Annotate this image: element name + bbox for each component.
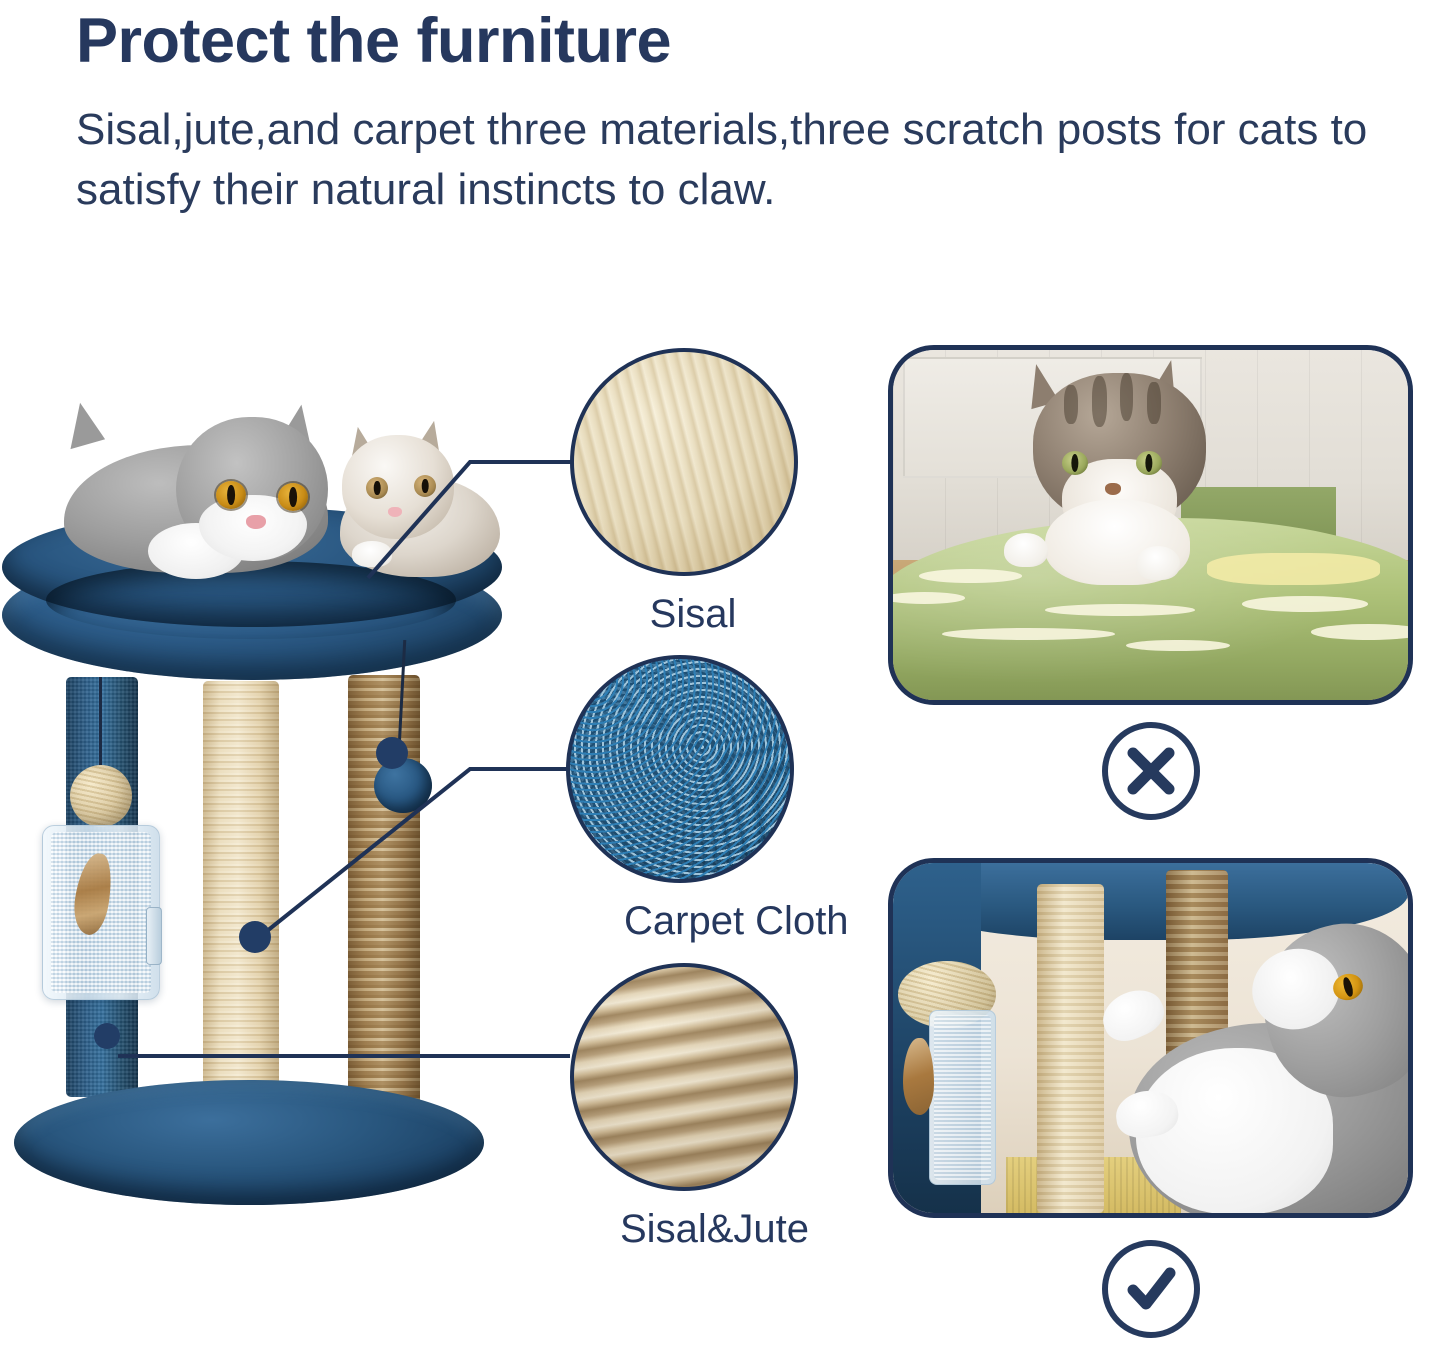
good-scene-feather-toy: [903, 1038, 934, 1115]
infographic-page: Protect the furniture Sisal,jute,and car…: [0, 0, 1441, 1345]
kitten-eye-right: [414, 475, 436, 497]
pom-pom-toy: [374, 758, 432, 813]
kitten-paw: [352, 541, 392, 567]
grey-white-cat-scratching: [1089, 912, 1413, 1218]
sisal-rope-swatch-icon: [570, 348, 798, 576]
material-label-sisal: Sisal: [580, 592, 806, 637]
page-subtitle: Sisal,jute,and carpet three materials,th…: [76, 100, 1406, 221]
grey-cat: [64, 403, 334, 575]
sisal-ball-toy: [70, 765, 132, 827]
sisal-jute-rope-swatch-icon: [570, 963, 798, 1191]
material-sisal-jute: Sisal&Jute: [570, 963, 806, 1252]
toy-string: [99, 677, 102, 773]
plush-base-disc: [14, 1080, 484, 1205]
groomer-clip: [146, 907, 162, 965]
cross-icon: [1102, 722, 1200, 820]
kitten-nose: [388, 507, 402, 517]
bad-cat-paw-left: [1004, 533, 1048, 567]
good-scene-groomer-brush: [929, 1010, 996, 1185]
good-cat-paw-upper: [1096, 981, 1171, 1048]
material-label-sisal-jute: Sisal&Jute: [620, 1207, 806, 1252]
check-icon: [1102, 1240, 1200, 1338]
material-sisal: Sisal: [570, 348, 806, 637]
sisal-jute-post: [348, 675, 420, 1125]
grey-cat-eye-left: [216, 481, 246, 509]
tabby-cat-scratching: [1017, 364, 1223, 581]
grey-cat-eye-right: [278, 483, 308, 511]
tabby-kitten: [330, 415, 500, 575]
material-carpet-cloth: Carpet Cloth: [566, 655, 802, 944]
bad-cat-eye-right: [1136, 451, 1162, 475]
material-label-carpet-cloth: Carpet Cloth: [624, 899, 802, 944]
photo-cat-using-scratching-post: [888, 858, 1413, 1218]
kitten-head: [342, 435, 454, 539]
header: Protect the furniture Sisal,jute,and car…: [76, 8, 1416, 221]
photo-cat-scratching-sofa: [888, 345, 1413, 705]
carpet-cloth-swatch-icon: [566, 655, 794, 883]
bad-cat-eye-left: [1062, 451, 1088, 475]
product-photo: [0, 385, 520, 1225]
kitten-eye-left: [366, 477, 388, 499]
bad-cat-paw-right: [1136, 546, 1180, 580]
grey-cat-nose: [246, 515, 266, 529]
page-title: Protect the furniture: [76, 8, 1416, 74]
grey-cat-ear-left: [59, 399, 105, 449]
